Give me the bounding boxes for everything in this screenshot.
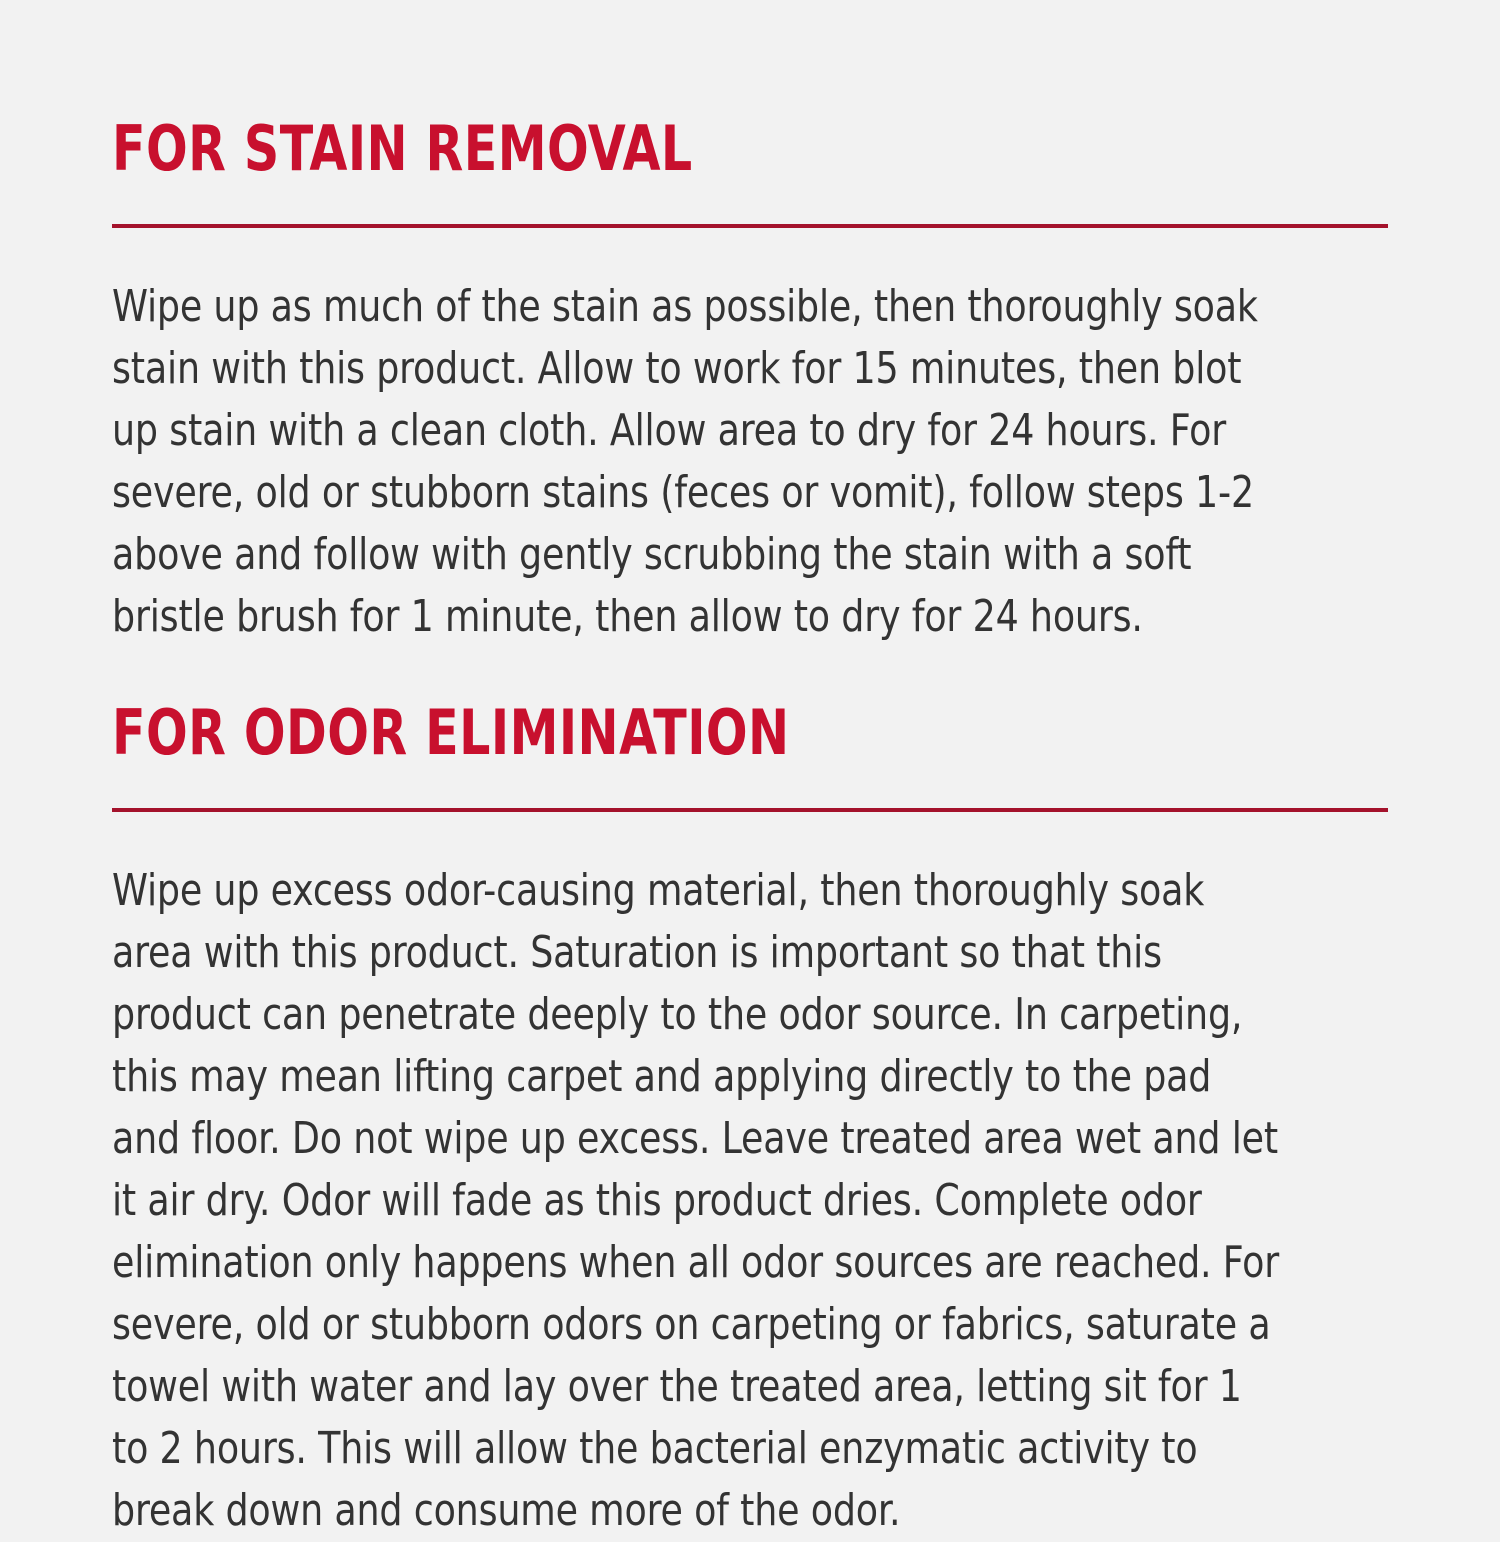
- section-heading-stain-removal: FOR STAIN REMOVAL: [112, 118, 1235, 180]
- section-body-stain-removal: Wipe up as much of the stain as possible…: [112, 276, 1286, 648]
- section-body-odor-elimination: Wipe up excess odor-causing material, th…: [112, 860, 1286, 1542]
- section-divider-odor-elimination: [112, 808, 1388, 812]
- section-heading-odor-elimination: FOR ODOR ELIMINATION: [112, 702, 1235, 764]
- section-odor-elimination: FOR ODOR ELIMINATION Wipe up excess odor…: [112, 702, 1388, 1542]
- product-label-instructions-panel: FOR STAIN REMOVAL Wipe up as much of the…: [0, 0, 1500, 1500]
- section-stain-removal: FOR STAIN REMOVAL Wipe up as much of the…: [112, 118, 1388, 648]
- section-divider-stain-removal: [112, 224, 1388, 228]
